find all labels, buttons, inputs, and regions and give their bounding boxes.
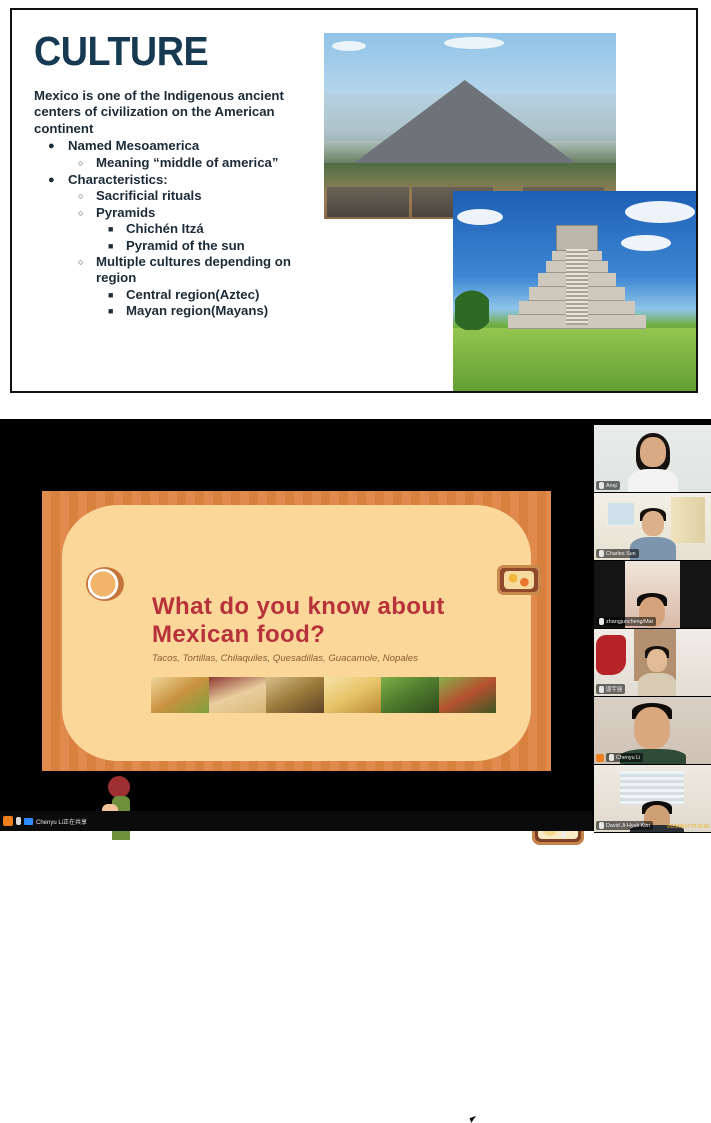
guacamole-photo (381, 677, 439, 713)
list-item-label: Named Mesoamerica (68, 138, 199, 153)
tortillas-photo (209, 677, 267, 713)
food-image-strip (151, 677, 496, 713)
participant-tile-tangyuhan[interactable]: 唐宇涵 (594, 629, 711, 697)
list-item: ● Named Mesoamerica (34, 138, 319, 154)
bullet-disc-icon: ● (48, 138, 55, 154)
list-item-label: Central region(Aztec) (126, 287, 259, 302)
list-item-label: Mayan region(Mayans) (126, 303, 268, 318)
list-item: ○ Meaning “middle of america” (34, 155, 319, 171)
slide-title: What do you know about Mexican food? (152, 593, 482, 649)
participant-nameplate: zhangjuncheng/Mat (596, 617, 656, 626)
participant-filmstrip[interactable]: Anqi Charles Sun zhangjuncheng/Mat (594, 425, 711, 831)
microphone-icon (609, 754, 614, 761)
top-slide-document: CULTURE Mexico is one of the Indigenous … (0, 0, 711, 402)
participant-name: 唐宇涵 (606, 685, 622, 693)
participant-nameplate: Chenyu Li (606, 753, 643, 762)
host-badge-icon (3, 816, 13, 826)
cloud-shape (332, 41, 366, 51)
list-item-label: Sacrificial rituals (96, 188, 202, 203)
bullet-circle-icon: ○ (78, 155, 83, 171)
sharing-status-text: Chenyu Li正在共享 (36, 817, 87, 826)
participant-nameplate: Anqi (596, 481, 620, 490)
list-item-label: Characteristics: (68, 172, 168, 187)
slide-subtitle: Tacos, Tortillas, Chilaquiles, Quesadill… (152, 653, 532, 664)
microphone-icon[interactable] (16, 817, 21, 825)
bullet-square-icon: ■ (108, 238, 113, 254)
avatar-torso (628, 469, 678, 493)
slide-content-panel: What do you know about Mexican food? Tac… (62, 505, 531, 761)
tray-icon (497, 565, 541, 595)
terrace-shape (327, 187, 409, 217)
microphone-icon (599, 822, 604, 829)
nopales-photo (439, 677, 497, 713)
microphone-icon (599, 550, 604, 557)
avatar-head (642, 511, 664, 536)
list-item: ■ Chichén Itzá (34, 221, 319, 237)
sharing-status-bar: Chenyu Li正在共享 (0, 811, 592, 831)
avatar-head (647, 649, 667, 672)
bullet-square-icon: ■ (108, 303, 113, 319)
microphone-icon (599, 618, 604, 625)
cloud-shape (625, 201, 695, 223)
temple-top (556, 225, 598, 251)
culture-body-text: Mexico is one of the Indigenous ancient … (34, 88, 319, 320)
cloud-shape (444, 37, 504, 49)
participant-tile-mat[interactable]: zhangjuncheng/Mat (594, 561, 711, 629)
tacos-photo (151, 677, 209, 713)
bullet-circle-icon: ○ (78, 188, 83, 204)
pyramid-shape (337, 80, 593, 176)
list-item: ● Characteristics: (34, 172, 319, 188)
participant-tile-david-kim[interactable]: David Ji-Hyuk Kim 2025/05/17 07:16:42 (594, 765, 711, 833)
microphone-icon (599, 482, 604, 489)
grass-field (453, 328, 698, 393)
participant-nameplate: David Ji-Hyuk Kim (596, 821, 653, 830)
avatar-head (634, 707, 670, 749)
bullet-disc-icon: ● (48, 172, 55, 188)
list-item-label: Meaning “middle of america” (96, 155, 278, 170)
host-badge-icon (596, 754, 604, 762)
pan-icon (86, 567, 124, 601)
culture-lead-paragraph: Mexico is one of the Indigenous ancient … (34, 88, 319, 137)
participant-name: David Ji-Hyuk Kim (606, 823, 650, 829)
mexican-food-slide: What do you know about Mexican food? Tac… (42, 491, 551, 771)
bullet-circle-icon: ○ (78, 205, 83, 221)
cloud-shape (621, 235, 671, 251)
chichen-itza-photo (453, 191, 698, 393)
video-timestamp: 2025/05/17 07:16:42 (667, 824, 709, 830)
page-title: CULTURE (34, 28, 208, 75)
zoom-meeting-window: What do you know about Mexican food? Tac… (0, 419, 711, 831)
culture-bullet-list: ● Named Mesoamerica ○ Meaning “middle of… (34, 138, 319, 319)
tree-shape (455, 282, 489, 330)
participant-nameplate: 唐宇涵 (596, 684, 625, 694)
list-item: ○ Pyramids (34, 205, 319, 221)
screen-share-stage[interactable]: What do you know about Mexican food? Tac… (0, 419, 592, 809)
bag-shape (596, 635, 626, 675)
participant-name: Anqi (606, 483, 617, 489)
list-item-label: Multiple cultures depending on region (96, 254, 291, 285)
bullet-circle-icon: ○ (78, 254, 83, 270)
quesadillas-photo (324, 677, 382, 713)
participant-name: Chenyu Li (616, 755, 640, 761)
window-shape (606, 501, 636, 527)
list-item: ■ Pyramid of the sun (34, 238, 319, 254)
bullet-square-icon: ■ (108, 287, 113, 303)
avatar-head (640, 437, 666, 467)
mouse-pointer (470, 1114, 483, 1123)
microphone-icon (599, 686, 604, 693)
participant-tile-charles-sun[interactable]: Charles Sun (594, 493, 711, 561)
list-item: ■ Central region(Aztec) (34, 287, 319, 303)
bullet-square-icon: ■ (108, 221, 113, 237)
list-item-label: Chichén Itzá (126, 221, 204, 236)
list-item: ■ Mayan region(Mayans) (34, 303, 319, 319)
cook-head (108, 776, 130, 798)
list-item: ○ Sacrificial rituals (34, 188, 319, 204)
participant-tile-chenyu-li[interactable]: Chenyu Li (594, 697, 711, 765)
chilaquiles-photo (266, 677, 324, 713)
participant-nameplate: Charles Sun (596, 549, 639, 558)
culture-slide: CULTURE Mexico is one of the Indigenous … (10, 8, 698, 393)
curtain-shape (671, 497, 705, 543)
window-blinds-shape (620, 771, 684, 805)
list-item-label: Pyramid of the sun (126, 238, 245, 253)
list-item-label: Pyramids (96, 205, 155, 220)
list-item: ○ Multiple cultures depending on region (34, 254, 319, 287)
staircase (566, 249, 588, 325)
cloud-shape (457, 209, 503, 225)
participant-name: zhangjuncheng/Mat (606, 619, 653, 625)
participant-name: Charles Sun (606, 551, 636, 557)
participant-tile-anqi[interactable]: Anqi (594, 425, 711, 493)
screen-share-icon[interactable] (24, 818, 33, 825)
avatar-torso (638, 673, 676, 697)
